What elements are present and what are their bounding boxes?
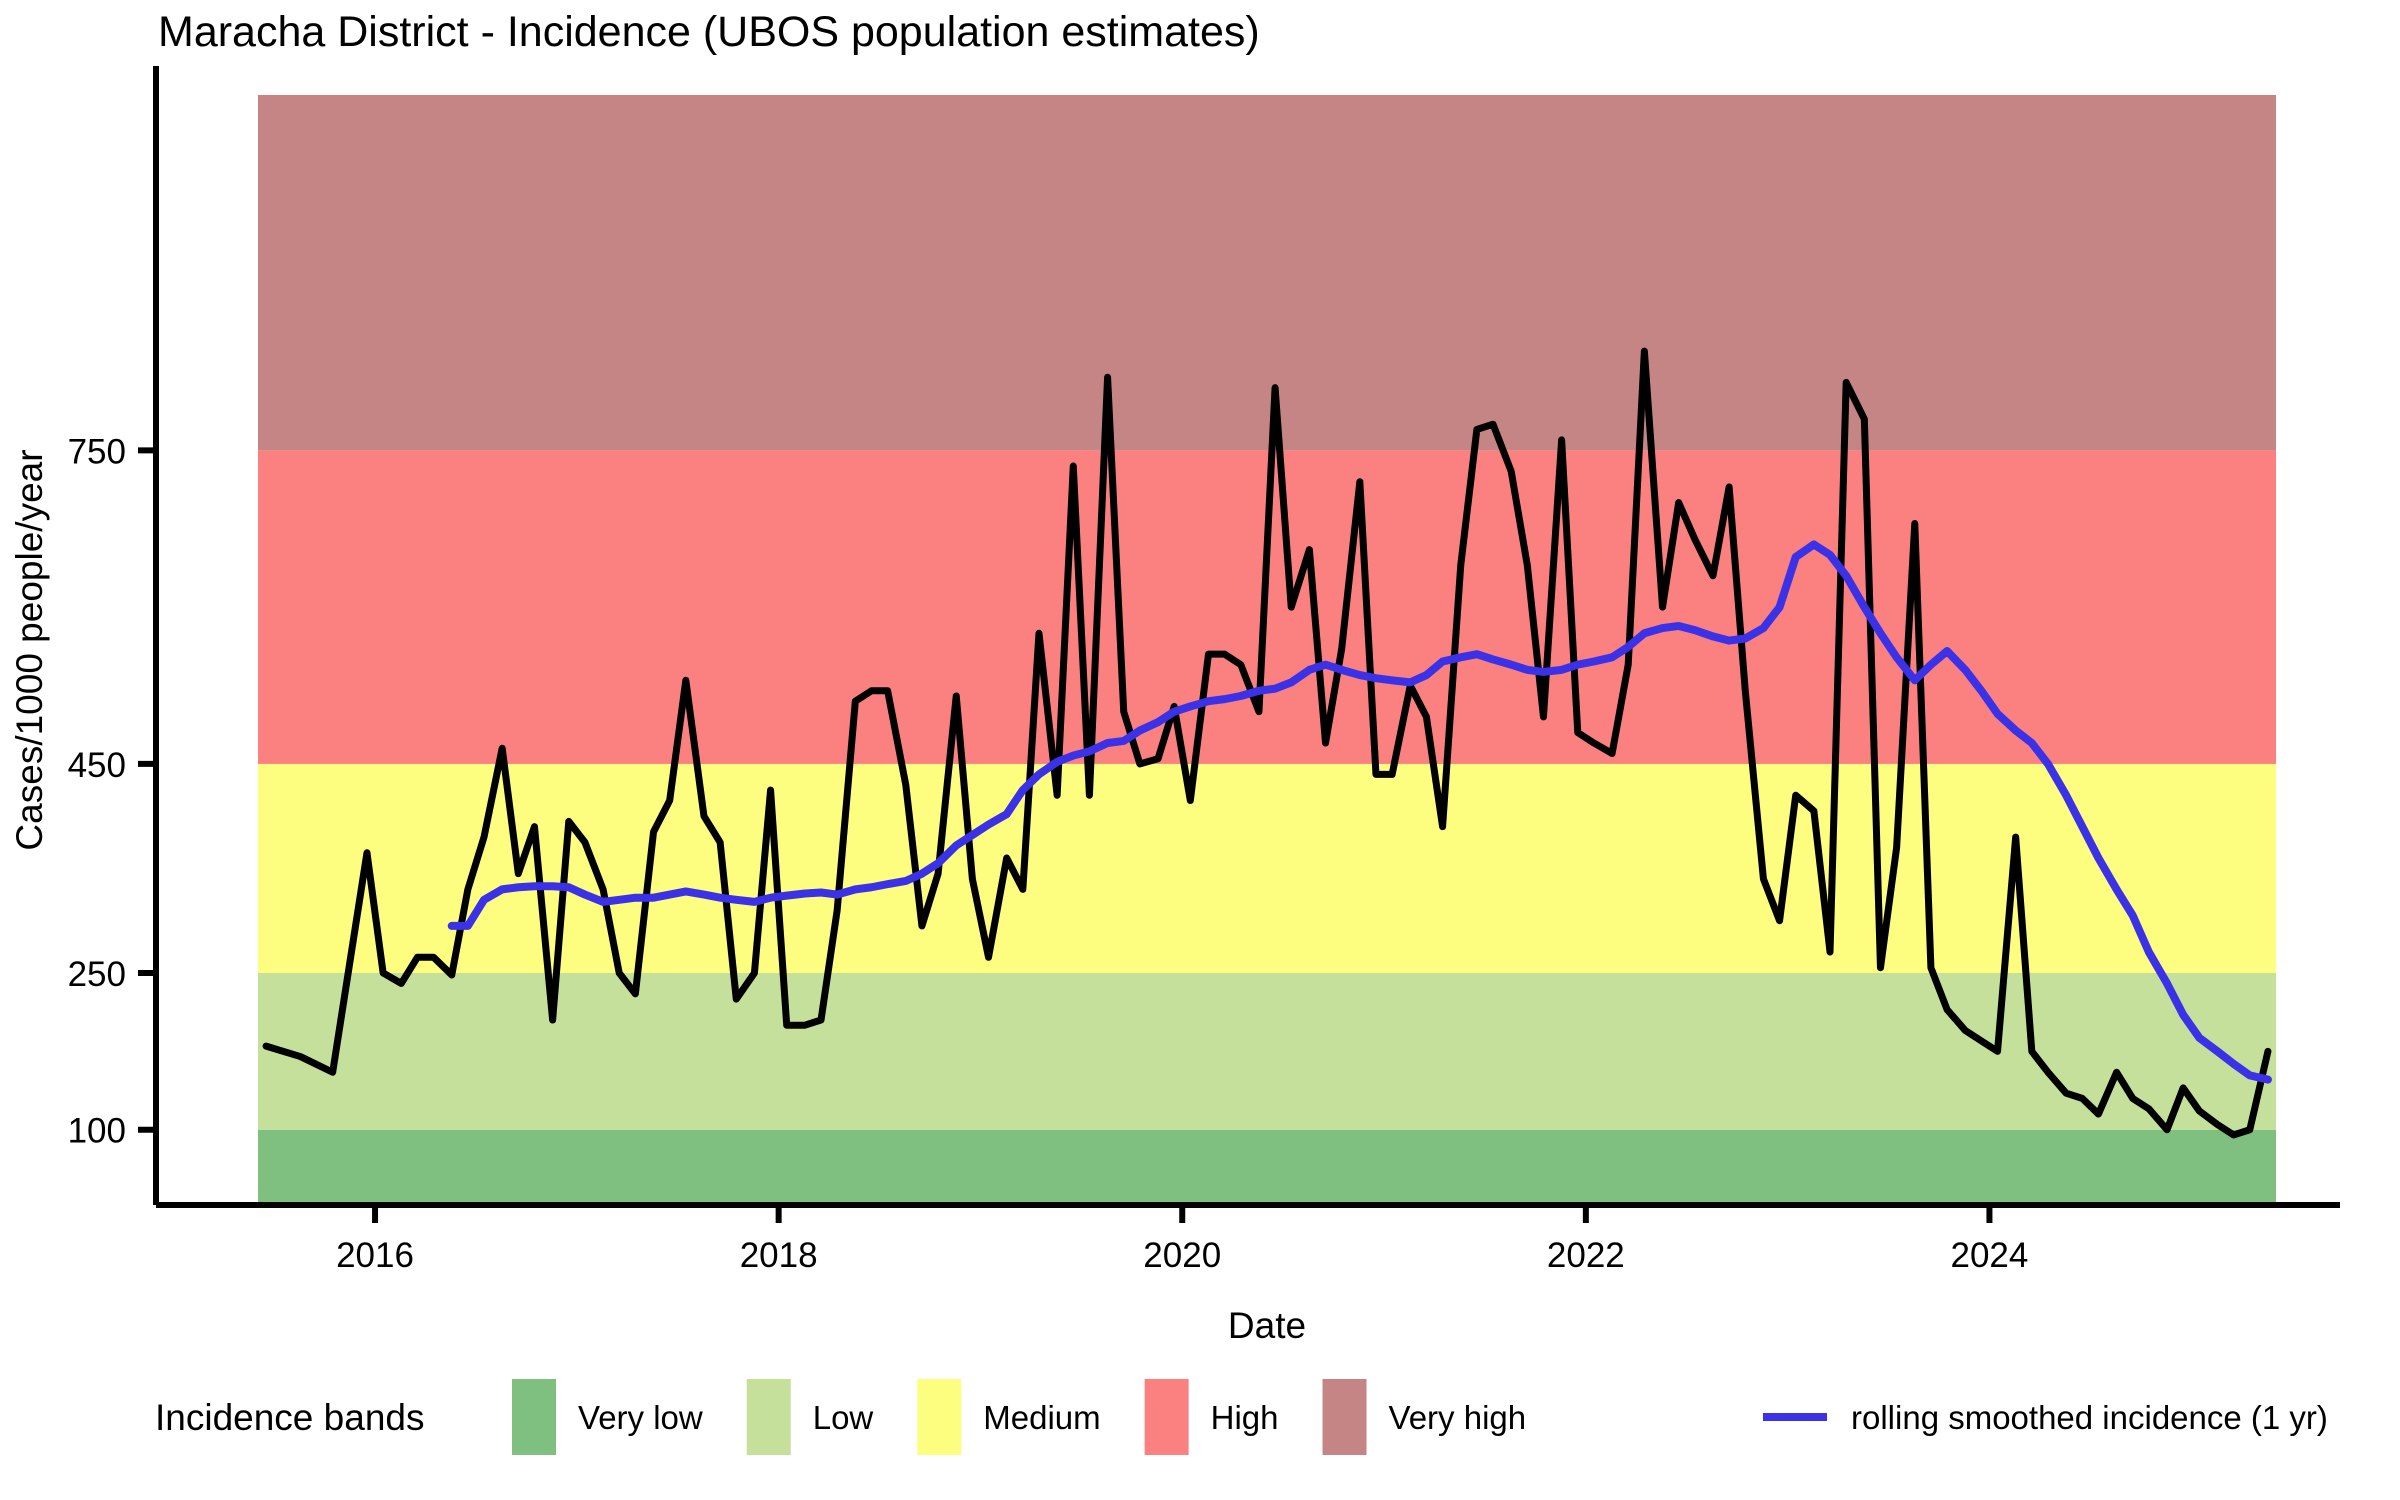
incidence-band-very-high <box>258 95 2276 450</box>
legend-label-medium: Medium <box>983 1399 1100 1436</box>
legend-label-very-high: Very high <box>1389 1399 1527 1436</box>
legend-swatch-medium[interactable] <box>917 1379 961 1455</box>
x-axis-title: Date <box>1228 1305 1306 1346</box>
legend-label-high: High <box>1211 1399 1279 1436</box>
legend-label-rolling-line: rolling smoothed incidence (1 yr) <box>1851 1399 2328 1436</box>
y-tick-label: 100 <box>68 1112 126 1151</box>
x-tick-label: 2024 <box>1951 1236 2029 1275</box>
legend-title-incidence-bands: Incidence bands <box>155 1397 424 1438</box>
incidence-chart: 10025045075020162018202020222024 DateCas… <box>0 0 2400 1500</box>
y-tick-label: 450 <box>68 746 126 785</box>
y-axis-title: Cases/1000 people/year <box>9 449 50 850</box>
x-tick-label: 2016 <box>336 1236 414 1275</box>
legend-swatch-very-low[interactable] <box>512 1379 556 1455</box>
legend-swatch-high[interactable] <box>1145 1379 1189 1455</box>
legend-label-very-low: Very low <box>578 1399 703 1436</box>
legend-swatch-low[interactable] <box>747 1379 791 1455</box>
x-tick-label: 2020 <box>1143 1236 1221 1275</box>
incidence-band-low <box>258 973 2276 1130</box>
legend-layer: Incidence bandsVery lowLowMediumHighVery… <box>155 1379 2328 1455</box>
chart-figure: Maracha District - Incidence (UBOS popul… <box>0 0 2400 1500</box>
legend-swatch-very-high[interactable] <box>1323 1379 1367 1455</box>
y-tick-label: 250 <box>68 955 126 994</box>
x-tick-label: 2022 <box>1547 1236 1625 1275</box>
x-tick-label: 2018 <box>740 1236 818 1275</box>
y-tick-label: 750 <box>68 432 126 471</box>
legend-label-low: Low <box>813 1399 874 1436</box>
incidence-band-very-low <box>258 1130 2276 1205</box>
